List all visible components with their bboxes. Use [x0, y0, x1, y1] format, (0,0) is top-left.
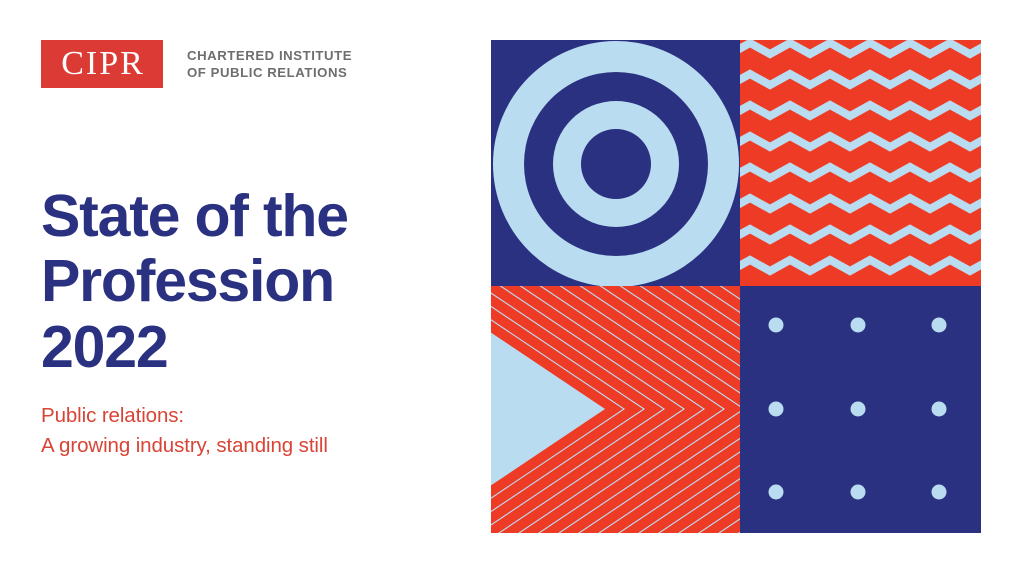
page-subtitle: Public relations: A growing industry, st… — [41, 401, 328, 461]
zigzag-svg — [740, 40, 981, 286]
cipr-logo-mark: CIPR — [41, 40, 163, 88]
graphic-quadrant-bullseye-icon — [491, 40, 740, 286]
page-title-line-1: State of the — [41, 184, 348, 249]
graphic-quadrant-zigzag-icon — [740, 40, 981, 286]
page-subtitle-line-2: A growing industry, standing still — [41, 431, 328, 461]
cipr-logo-tagline-line-1: CHARTERED INSTITUTE — [187, 47, 352, 64]
chevron-stripes-svg — [491, 286, 740, 533]
page-title: State of the Profession 2022 — [41, 184, 348, 380]
cipr-logo-mark-text: CIPR — [59, 47, 145, 81]
page-title-line-3: 2022 — [41, 315, 348, 380]
page-title-line-2: Profession — [41, 249, 348, 314]
cover-graphic — [491, 40, 981, 533]
cover-page: CIPR CHARTERED INSTITUTE OF PUBLIC RELAT… — [0, 0, 1024, 576]
graphic-quadrant-dot-grid-icon — [740, 286, 981, 533]
bullseye-svg — [491, 40, 740, 286]
cipr-logo-tagline: CHARTERED INSTITUTE OF PUBLIC RELATIONS — [187, 47, 352, 82]
cipr-logo: CIPR CHARTERED INSTITUTE OF PUBLIC RELAT… — [41, 40, 352, 88]
dot-grid-svg — [740, 286, 981, 533]
cipr-logo-tagline-line-2: OF PUBLIC RELATIONS — [187, 64, 352, 81]
graphic-quadrant-chevron-stripes-icon — [491, 286, 740, 533]
page-subtitle-line-1: Public relations: — [41, 401, 328, 431]
